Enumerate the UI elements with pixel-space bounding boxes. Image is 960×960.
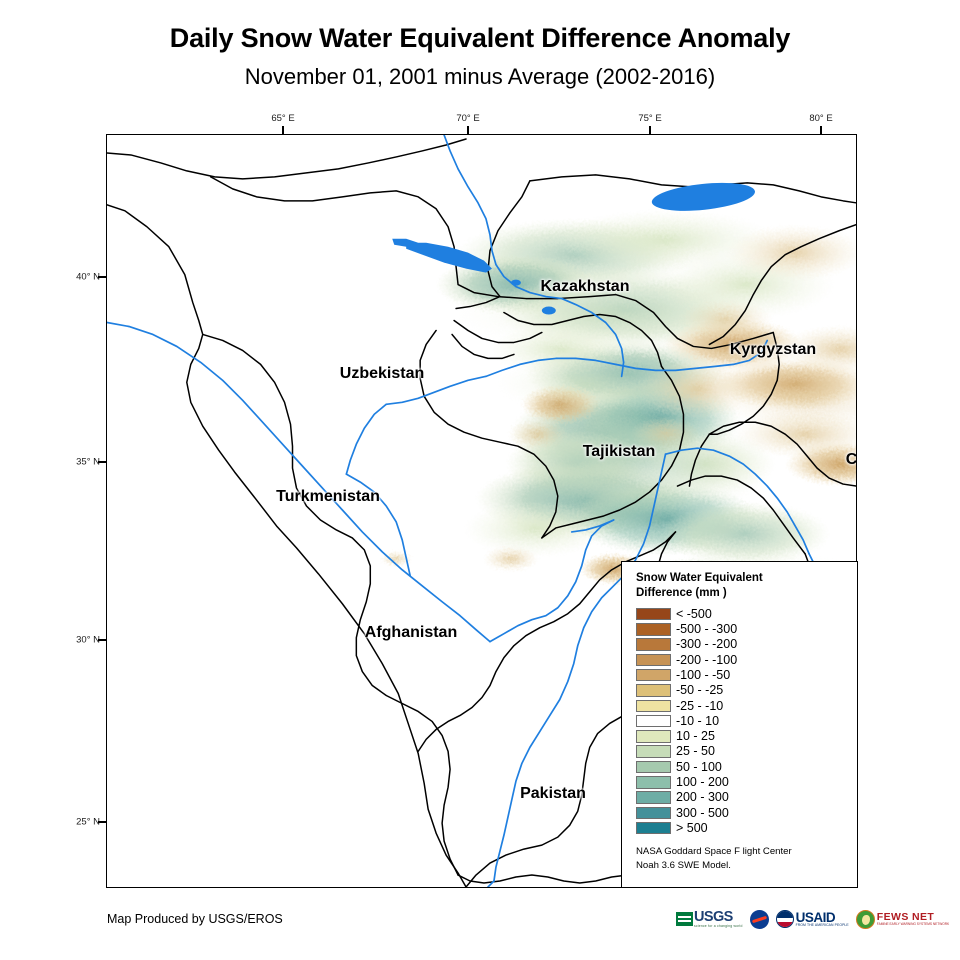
lat-tick-label-40: 40° N [70, 272, 100, 283]
lon-tick-mark-75 [649, 126, 651, 135]
legend-swatch-8 [636, 730, 671, 743]
legend-label-1: -500 - -300 [676, 623, 737, 636]
legend-source-line2: Noah 3.6 SWE Model. [636, 859, 847, 873]
usgs-wave-icon [676, 912, 693, 926]
legend-label-6: -25 - -10 [676, 700, 723, 713]
lat-tick-mark-40 [98, 276, 107, 278]
legend-swatch-0 [636, 608, 671, 621]
legend-row: -200 - -100 [636, 652, 847, 667]
fewsnet-logo[interactable]: FEWS NET FAMINE EARLY WARNING SYSTEMS NE… [856, 906, 949, 932]
legend-row: 25 - 50 [636, 744, 847, 759]
page-subtitle: November 01, 2001 minus Average (2002-20… [0, 65, 960, 89]
lat-tick-mark-35 [98, 461, 107, 463]
lon-tick-label-70: 70° E [456, 113, 479, 124]
lon-tick-label-65: 65° E [271, 113, 294, 124]
legend-swatch-7 [636, 715, 671, 728]
nasa-logo[interactable] [750, 906, 769, 932]
lon-tick-mark-80 [820, 126, 822, 135]
legend-swatch-9 [636, 745, 671, 758]
map-legend: Snow Water Equivalent Difference (mm ) <… [621, 561, 858, 888]
legend-row: -25 - -10 [636, 698, 847, 713]
legend-label-2: -300 - -200 [676, 638, 737, 651]
legend-row: 50 - 100 [636, 759, 847, 774]
legend-row: -10 - 10 [636, 713, 847, 728]
legend-title-line1: Snow Water Equivalent [636, 571, 847, 586]
legend-row: 10 - 25 [636, 729, 847, 744]
legend-label-12: 200 - 300 [676, 791, 729, 804]
legend-row: 200 - 300 [636, 790, 847, 805]
legend-label-11: 100 - 200 [676, 776, 729, 789]
legend-row: 100 - 200 [636, 775, 847, 790]
legend-label-5: -50 - -25 [676, 684, 723, 697]
page-title: Daily Snow Water Equivalent Difference A… [0, 24, 960, 54]
lon-tick-mark-65 [282, 126, 284, 135]
legend-label-9: 25 - 50 [676, 745, 715, 758]
legend-row: -300 - -200 [636, 637, 847, 652]
legend-swatch-5 [636, 684, 671, 697]
fewsnet-tagline: FAMINE EARLY WARNING SYSTEMS NETWORK [877, 923, 949, 926]
legend-swatch-2 [636, 638, 671, 651]
title-block: Daily Snow Water Equivalent Difference A… [0, 24, 960, 89]
lon-tick-label-80: 80° E [809, 113, 832, 124]
lon-tick-label-75: 75° E [638, 113, 661, 124]
legend-row: -100 - -50 [636, 668, 847, 683]
usgs-logo[interactable]: USGS science for a changing world [676, 906, 743, 932]
legend-swatch-6 [636, 700, 671, 713]
legend-swatch-4 [636, 669, 671, 682]
legend-label-10: 50 - 100 [676, 761, 722, 774]
legend-source-line1: NASA Goddard Space F light Center [636, 845, 847, 859]
legend-label-13: 300 - 500 [676, 807, 729, 820]
usgs-tagline: science for a changing world [694, 925, 743, 928]
lat-tick-label-35: 35° N [70, 457, 100, 468]
legend-label-7: -10 - 10 [676, 715, 719, 728]
usaid-tagline: FROM THE AMERICAN PEOPLE [796, 924, 849, 927]
usaid-seal-icon [776, 910, 794, 928]
usgs-wordmark: USGS [694, 910, 743, 925]
legend-row: -500 - -300 [636, 622, 847, 637]
legend-swatch-12 [636, 791, 671, 804]
lat-tick-mark-25 [98, 821, 107, 823]
legend-row: 300 - 500 [636, 805, 847, 820]
usaid-logo[interactable]: USAID FROM THE AMERICAN PEOPLE [776, 906, 849, 932]
legend-row: < -500 [636, 606, 847, 621]
legend-title-line2: Difference (mm ) [636, 586, 847, 601]
legend-row: -50 - -25 [636, 683, 847, 698]
legend-label-8: 10 - 25 [676, 730, 715, 743]
fewsnet-globe-icon [856, 910, 875, 929]
legend-row: > 500 [636, 821, 847, 836]
lat-tick-label-30: 30° N [70, 635, 100, 646]
map-credit: Map Produced by USGS/EROS [107, 912, 283, 926]
legend-label-14: > 500 [676, 822, 708, 835]
legend-title: Snow Water Equivalent Difference (mm ) [636, 571, 847, 601]
legend-entries: < -500 -500 - -300 -300 - -200 -200 - -1… [636, 606, 847, 835]
lon-tick-mark-70 [467, 126, 469, 135]
legend-swatch-11 [636, 776, 671, 789]
legend-swatch-14 [636, 822, 671, 835]
lat-tick-label-25: 25° N [70, 817, 100, 828]
lat-tick-mark-30 [98, 639, 107, 641]
legend-label-0: < -500 [676, 608, 712, 621]
legend-swatch-10 [636, 761, 671, 774]
legend-swatch-13 [636, 807, 671, 820]
logo-strip: USGS science for a changing world USAID … [676, 906, 949, 932]
legend-swatch-1 [636, 623, 671, 636]
legend-source-note: NASA Goddard Space F light Center Noah 3… [636, 845, 847, 873]
legend-swatch-3 [636, 654, 671, 667]
usaid-wordmark: USAID [796, 911, 849, 925]
nasa-meatball-icon [750, 910, 769, 929]
legend-label-4: -100 - -50 [676, 669, 730, 682]
legend-label-3: -200 - -100 [676, 654, 737, 667]
